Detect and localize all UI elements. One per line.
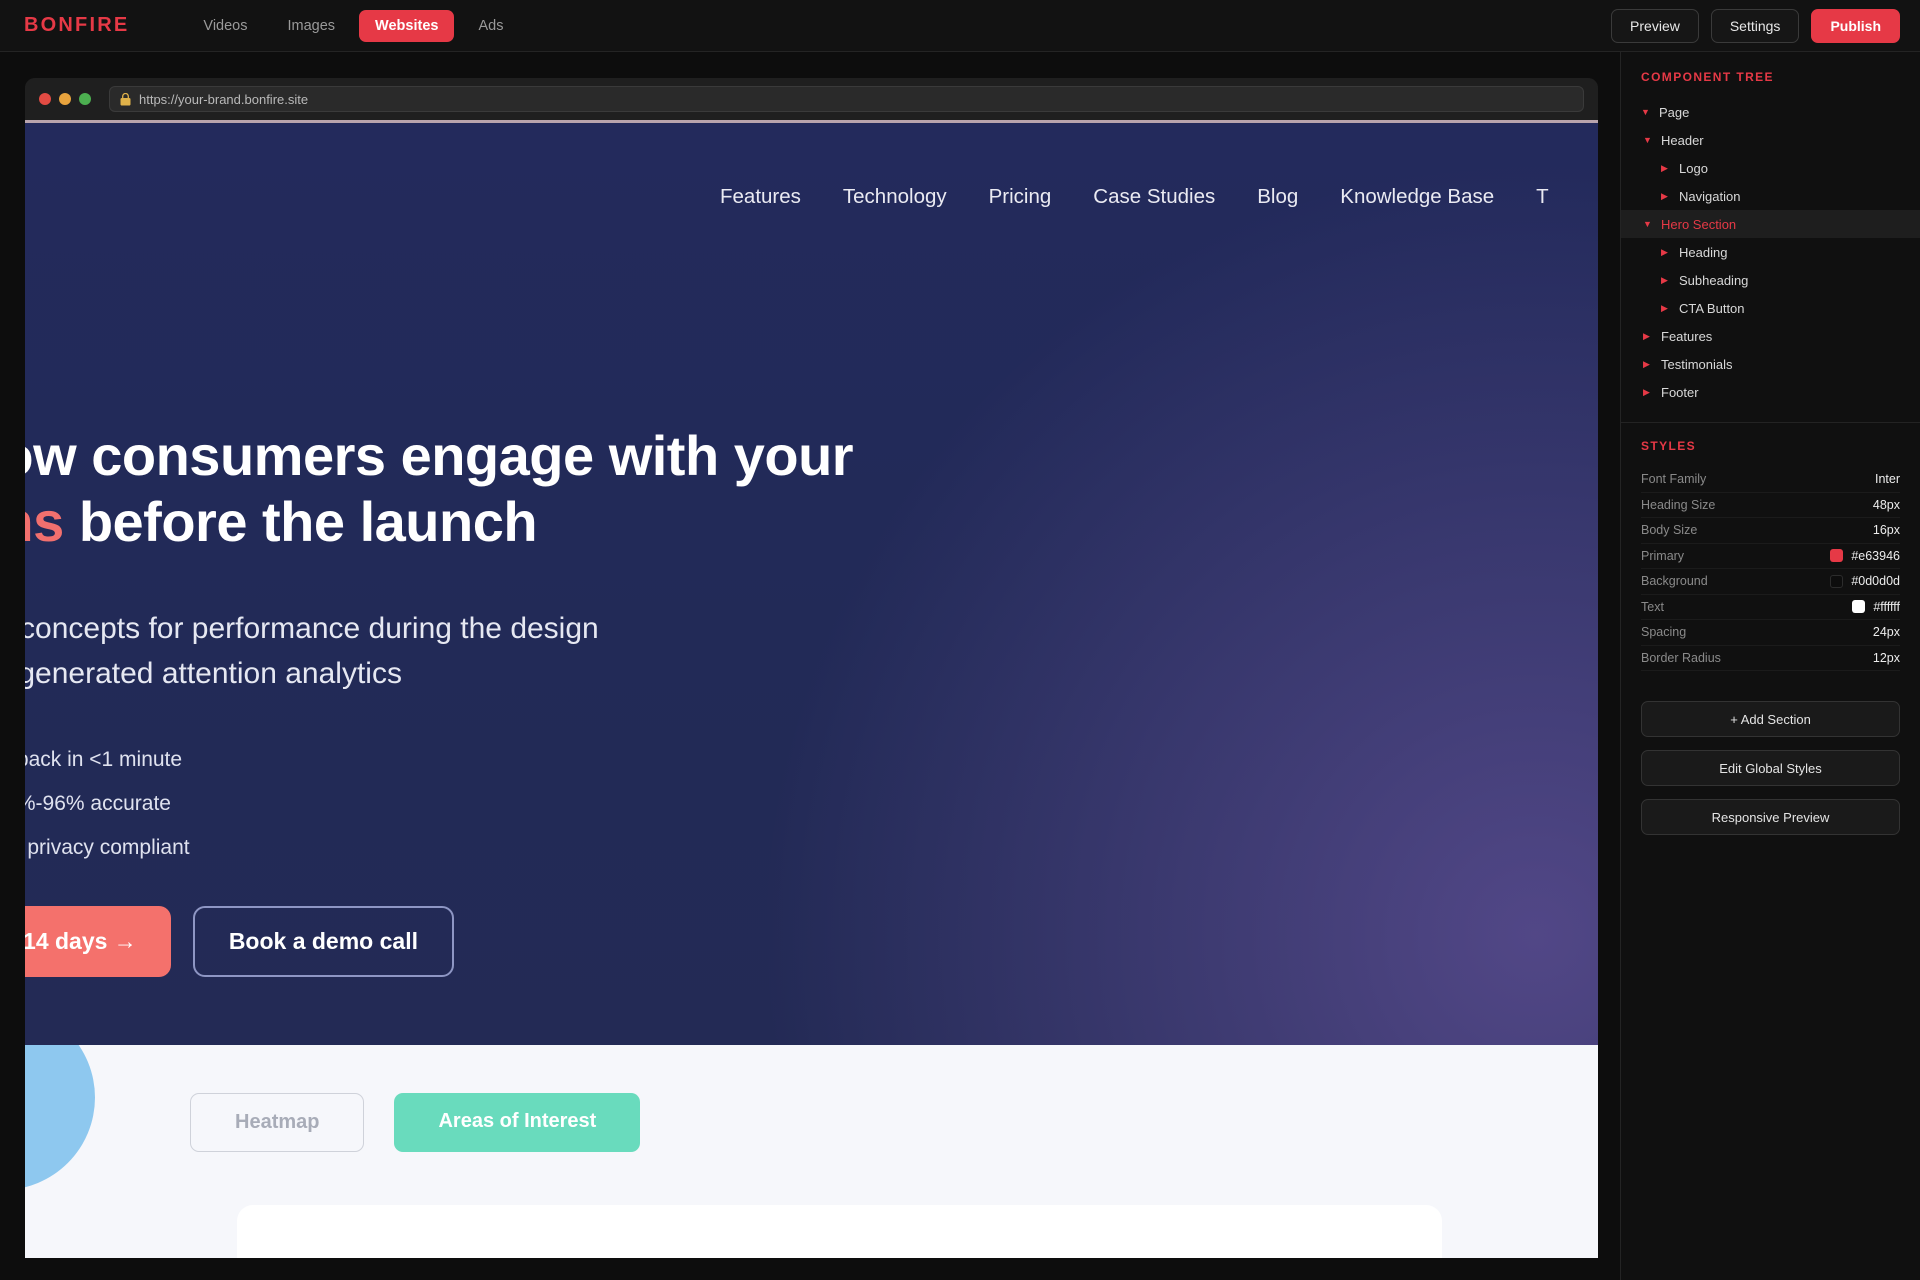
style-label: Spacing <box>1641 625 1686 639</box>
tree-node-label: Navigation <box>1679 189 1740 204</box>
chevron-right-icon[interactable]: ▶ <box>1661 192 1671 201</box>
close-window-icon[interactable] <box>39 93 51 105</box>
tree-node-label: CTA Button <box>1679 301 1745 316</box>
style-row-border-radius[interactable]: Border Radius12px <box>1641 646 1900 672</box>
style-value-wrap: #0d0d0d <box>1830 574 1900 588</box>
maximize-window-icon[interactable] <box>79 93 91 105</box>
style-row-heading-size[interactable]: Heading Size48px <box>1641 493 1900 519</box>
color-swatch[interactable] <box>1852 600 1865 613</box>
component-tree-title: COMPONENT TREE <box>1641 70 1900 84</box>
style-label: Text <box>1641 600 1664 614</box>
minimize-window-icon[interactable] <box>59 93 71 105</box>
settings-button[interactable]: Settings <box>1711 9 1800 43</box>
style-label: Primary <box>1641 549 1684 563</box>
style-row-font-family[interactable]: Font FamilyInter <box>1641 467 1900 493</box>
chevron-right-icon[interactable]: ▶ <box>1643 332 1653 341</box>
visualization-card <box>237 1205 1442 1258</box>
hero-bullet: rucial feedback in <1 minute <box>25 738 1420 782</box>
tree-node-navigation[interactable]: ▶Navigation <box>1621 182 1920 210</box>
chevron-right-icon[interactable]: ▶ <box>1643 360 1653 369</box>
heading-line-2: before the launch <box>64 490 537 553</box>
style-value-wrap: 12px <box>1873 651 1900 665</box>
site-nav-link[interactable]: Blog <box>1257 185 1298 209</box>
heading-line-1: e how consumers engage with your <box>25 424 853 487</box>
hero-content: e how consumers engage with your signs b… <box>25 423 1420 977</box>
hero-heading: e how consumers engage with your signs b… <box>25 423 1420 554</box>
cta-primary-button[interactable]: ee for 14 days → <box>25 906 171 977</box>
style-value-wrap: 24px <box>1873 625 1900 639</box>
viz-tab-areas-of-interest[interactable]: Areas of Interest <box>394 1093 640 1152</box>
style-value: #0d0d0d <box>1851 574 1900 588</box>
chevron-down-icon[interactable]: ▼ <box>1643 220 1653 229</box>
app-nav-ads[interactable]: Ads <box>462 10 519 42</box>
tree-node-features[interactable]: ▶Features <box>1621 322 1920 350</box>
hero-section[interactable]: FeaturesTechnologyPricingCase StudiesBlo… <box>25 120 1598 1045</box>
tree-node-label: Subheading <box>1679 273 1748 288</box>
style-value-wrap: #ffffff <box>1852 600 1900 614</box>
tree-node-header[interactable]: ▼Header <box>1621 126 1920 154</box>
tree-node-testimonials[interactable]: ▶Testimonials <box>1621 350 1920 378</box>
address-bar[interactable]: https://your-brand.bonfire.site <box>109 86 1584 112</box>
heading-highlight: signs <box>25 490 64 553</box>
app-nav-tabs: VideosImagesWebsitesAds <box>187 10 519 42</box>
tree-node-label: Heading <box>1679 245 1727 260</box>
subheading-line-2: with AI-generated attention analytics <box>25 651 1420 696</box>
hero-cta-group: ee for 14 days → Book a demo call <box>25 906 1420 977</box>
visualization-tabs: HeatmapAreas of Interest <box>190 1093 640 1152</box>
site-nav-link[interactable]: T <box>1536 185 1549 209</box>
style-label: Font Family <box>1641 472 1706 486</box>
responsive-preview-button[interactable]: Responsive Preview <box>1641 799 1900 835</box>
cta-secondary-button[interactable]: Book a demo call <box>193 906 454 977</box>
style-value-wrap: #e63946 <box>1830 549 1900 563</box>
chevron-right-icon[interactable]: ▶ <box>1661 248 1671 257</box>
style-value: #e63946 <box>1851 549 1900 563</box>
hero-bullet: GDPR and privacy compliant <box>25 826 1420 870</box>
app-logo: BONFIRE <box>24 14 129 37</box>
site-nav-link[interactable]: Features <box>720 185 801 209</box>
sidebar-actions: + Add SectionEdit Global StylesResponsiv… <box>1641 701 1900 835</box>
toolbar-actions: PreviewSettingsPublish <box>1611 0 1900 52</box>
app-nav-images[interactable]: Images <box>271 10 351 42</box>
chevron-right-icon[interactable]: ▶ <box>1661 304 1671 313</box>
chevron-right-icon[interactable]: ▶ <box>1661 164 1671 173</box>
tree-node-label: Header <box>1661 133 1704 148</box>
color-swatch[interactable] <box>1830 549 1843 562</box>
tree-node-label: Features <box>1661 329 1712 344</box>
site-navigation: FeaturesTechnologyPricingCase StudiesBlo… <box>25 185 1598 209</box>
hero-subheading: te your concepts for performance during … <box>25 606 1420 696</box>
features-preview-section: HeatmapAreas of Interest <box>25 1045 1598 1258</box>
publish-button[interactable]: Publish <box>1811 9 1900 43</box>
tree-node-label: Page <box>1659 105 1689 120</box>
chevron-down-icon[interactable]: ▼ <box>1643 136 1653 145</box>
styles-panel: STYLES Font FamilyInterHeading Size48pxB… <box>1641 423 1900 671</box>
style-value-wrap: 16px <box>1873 523 1900 537</box>
style-label: Border Radius <box>1641 651 1721 665</box>
traffic-lights <box>39 93 91 105</box>
decorative-circle <box>25 1045 95 1190</box>
tree-node-label: Logo <box>1679 161 1708 176</box>
preview-button[interactable]: Preview <box>1611 9 1699 43</box>
style-value-wrap: 48px <box>1873 498 1900 512</box>
style-value: 48px <box>1873 498 1900 512</box>
style-value: #ffffff <box>1873 600 1900 614</box>
style-value-wrap: Inter <box>1875 472 1900 486</box>
tree-node-logo[interactable]: ▶Logo <box>1621 154 1920 182</box>
viz-tab-heatmap[interactable]: Heatmap <box>190 1093 364 1152</box>
tree-node-footer[interactable]: ▶Footer <box>1621 378 1920 406</box>
app-nav-videos[interactable]: Videos <box>187 10 263 42</box>
style-row-body-size[interactable]: Body Size16px <box>1641 518 1900 544</box>
tree-node-heading[interactable]: ▶Heading <box>1621 238 1920 266</box>
site-nav-link[interactable]: Pricing <box>989 185 1052 209</box>
style-label: Heading Size <box>1641 498 1715 512</box>
url-text: https://your-brand.bonfire.site <box>139 92 308 107</box>
site-nav-link[interactable]: Technology <box>843 185 947 209</box>
browser-chrome: https://your-brand.bonfire.site <box>25 78 1598 120</box>
color-swatch[interactable] <box>1830 575 1843 588</box>
component-tree: ▼Page▼Header▶Logo▶Navigation▼Hero Sectio… <box>1641 98 1900 406</box>
style-row-primary[interactable]: Primary#e63946 <box>1641 544 1900 570</box>
tree-node-label: Testimonials <box>1661 357 1733 372</box>
style-value: 16px <box>1873 523 1900 537</box>
edit-global-styles-button[interactable]: Edit Global Styles <box>1641 750 1900 786</box>
rendered-website: FeaturesTechnologyPricingCase StudiesBlo… <box>25 120 1598 1258</box>
chevron-right-icon[interactable]: ▶ <box>1643 388 1653 397</box>
tree-node-subheading[interactable]: ▶Subheading <box>1621 266 1920 294</box>
tree-node-page[interactable]: ▼Page <box>1621 98 1920 126</box>
style-value: Inter <box>1875 472 1900 486</box>
site-nav-link[interactable]: Case Studies <box>1093 185 1215 209</box>
chevron-right-icon[interactable]: ▶ <box>1661 276 1671 285</box>
style-value: 24px <box>1873 625 1900 639</box>
style-label: Body Size <box>1641 523 1697 537</box>
inspector-sidebar: COMPONENT TREE ▼Page▼Header▶Logo▶Navigat… <box>1620 52 1920 1280</box>
app-nav-websites[interactable]: Websites <box>359 10 454 42</box>
tree-node-label: Hero Section <box>1661 217 1736 232</box>
tree-node-cta-button[interactable]: ▶CTA Button <box>1621 294 1920 322</box>
tree-node-label: Footer <box>1661 385 1699 400</box>
lock-icon <box>120 93 131 106</box>
tree-node-hero-section[interactable]: ▼Hero Section <box>1621 210 1920 238</box>
hero-bullet-list: rucial feedback in <1 minutetics are 90%… <box>25 738 1420 870</box>
chevron-down-icon[interactable]: ▼ <box>1641 108 1651 117</box>
app-toolbar: BONFIRE VideosImagesWebsitesAds PreviewS… <box>0 0 1920 52</box>
styles-list: Font FamilyInterHeading Size48pxBody Siz… <box>1641 467 1900 671</box>
styles-title: STYLES <box>1641 439 1900 453</box>
style-label: Background <box>1641 574 1708 588</box>
website-preview-frame: https://your-brand.bonfire.site Features… <box>25 78 1598 1258</box>
style-row-spacing[interactable]: Spacing24px <box>1641 620 1900 646</box>
hero-bullet: tics are 90%-96% accurate <box>25 782 1420 826</box>
style-row-text[interactable]: Text#ffffff <box>1641 595 1900 621</box>
subheading-line-1: te your concepts for performance during … <box>25 606 1420 651</box>
site-nav-link[interactable]: Knowledge Base <box>1340 185 1494 209</box>
add-section-button[interactable]: + Add Section <box>1641 701 1900 737</box>
style-row-background[interactable]: Background#0d0d0d <box>1641 569 1900 595</box>
style-value: 12px <box>1873 651 1900 665</box>
